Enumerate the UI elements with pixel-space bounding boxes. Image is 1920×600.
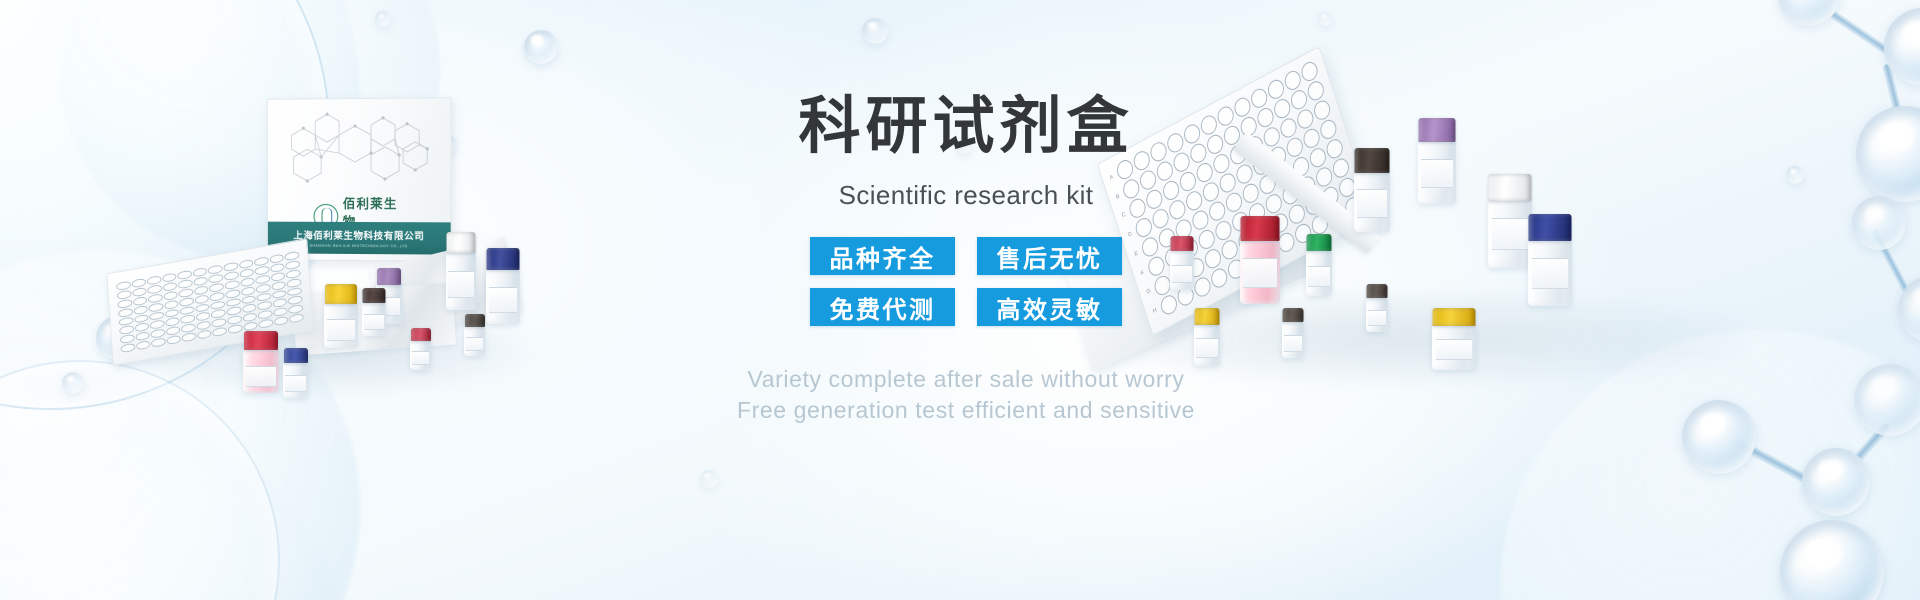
plate-well [182,332,197,342]
plate-well [117,289,132,299]
plate-well [179,296,194,306]
plate-well [212,327,227,337]
plate-well [193,267,208,277]
plate-well [286,269,301,279]
plate-well [209,282,224,292]
vial-yellow-cap [1432,308,1476,370]
plate-well [147,284,162,294]
product-photo-left: 佰利莱生物 BAILILAI BIOLOGY 上海佰利莱生物科技有限公司 SHA… [108,96,548,392]
plate-well [117,298,132,308]
plate-well [210,291,225,301]
vial-green-cap [1306,234,1332,296]
plate-well [255,265,270,275]
plate-well [288,304,303,314]
plate-well [254,256,269,266]
feature-badge-free-test[interactable]: 免费代测 [810,288,955,326]
plate-well [150,329,165,339]
feature-badge-list: 品种齐全 售后无忧 免费代测 高效灵敏 [810,237,1122,326]
plate-well [258,310,273,320]
plate-well [208,264,223,274]
feature-badge-sensitive[interactable]: 高效灵敏 [977,288,1122,326]
plate-well [120,343,135,353]
hero-banner: 佰利莱生物 BAILILAI BIOLOGY 上海佰利莱生物科技有限公司 SHA… [0,0,1920,600]
molecule-icon [1852,196,1920,346]
feature-badge-variety[interactable]: 品种齐全 [810,237,955,275]
plate-well [178,279,193,289]
water-droplet-icon [862,18,888,44]
plate-well [177,270,192,280]
plate-well [223,262,238,272]
plate-well [193,276,208,286]
plate-well [133,296,148,306]
plate-well [166,335,181,345]
plate-well [180,314,195,324]
plate-well [209,273,224,283]
plate-well [273,298,288,308]
plate-well [194,285,209,295]
page-subtitle: Scientific research kit [636,180,1296,211]
plate-well [242,303,257,313]
vial-red-cap [243,331,279,393]
plate-well [225,279,240,289]
vial-blue-cap [1528,214,1572,306]
water-droplet-icon [1318,12,1332,26]
plate-well [225,288,240,298]
vial-pink-cap [410,328,431,370]
plate-well [272,289,287,299]
tagline: Variety complete after sale without worr… [636,364,1296,427]
plate-well [195,294,210,304]
vial-blue-cap [283,348,308,398]
plate-well [256,283,271,293]
plate-well [242,312,257,322]
water-droplet-icon [700,470,718,488]
plate-well [164,308,179,318]
plate-well [227,315,242,325]
vial-gray-cap [1366,284,1388,332]
plate-well [131,278,146,288]
feature-badge-aftersale[interactable]: 售后无忧 [977,237,1122,275]
plate-well [196,311,211,321]
plate-well [224,270,239,280]
water-droplet-icon [524,30,558,64]
bubble-outline [0,360,280,600]
plate-well [239,268,254,278]
plate-well [136,340,151,350]
plate-well [166,326,181,336]
bubble-blob [0,430,340,600]
plate-well [269,253,284,263]
plate-well [179,287,194,297]
vial-blue-cap [486,248,520,324]
plate-well [181,323,196,333]
plate-well [148,293,163,303]
page-title: 科研试剂盒 [636,96,1296,158]
plate-well [239,259,254,269]
molecule-icon [1676,370,1920,600]
vial-darkbrown-cap [1354,148,1390,232]
plate-well [274,316,289,326]
plate-well [287,277,302,287]
plate-well [165,317,180,327]
vial-purple-cap [1418,118,1456,204]
plate-well [195,303,210,313]
vial-darkgray-cap [464,314,485,356]
plate-well [212,318,227,328]
plate-well [133,305,148,315]
plate-well [271,280,286,290]
plate-well [151,337,166,347]
plate-well [240,277,255,287]
plate-well [118,307,133,317]
vial-yellow-cap [324,284,358,348]
tagline-line-1: Variety complete after sale without worr… [636,364,1296,395]
plate-well [258,318,273,328]
vial-white-cap [1488,174,1532,268]
banner-copy: 科研试剂盒 Scientific research kit 品种齐全 售后无忧 … [636,96,1296,427]
reagent-kit-box: 佰利莱生物 BAILILAI BIOLOGY 上海佰利莱生物科技有限公司 SHA… [267,97,452,261]
plate-well [197,329,212,339]
plate-well [162,272,177,282]
plate-well [270,262,285,272]
plate-well [241,286,256,296]
plate-well [147,275,162,285]
kit-company-name-en: SHANGHAI BAILILAI BIOTECHNOLOGY CO.,LTD [310,244,408,249]
plate-well [116,281,131,291]
plate-well [288,295,303,305]
kit-company-name-cn: 上海佰利莱生物科技有限公司 [293,227,424,242]
plate-well [211,309,226,319]
plate-well [134,322,149,332]
plate-well [273,307,288,317]
water-droplet-icon [375,11,391,27]
plate-well [285,260,300,270]
hexagon-pattern-icon [274,108,452,201]
tagline-line-2: Free generation test efficient and sensi… [636,395,1296,426]
plate-well [255,274,270,284]
plate-well [228,324,243,334]
plate-well [163,281,178,291]
vial-white-cap [446,232,476,310]
plate-well [285,251,300,261]
plate-well [289,313,304,323]
vial-darkbrown-cap [362,288,386,336]
plate-well [149,302,164,312]
plate-well [132,287,147,297]
plate-well [196,320,211,330]
water-droplet-icon [62,372,84,394]
plate-well [164,299,179,309]
plate-well [271,271,286,281]
plate-well [163,290,178,300]
plate-well [135,331,150,341]
